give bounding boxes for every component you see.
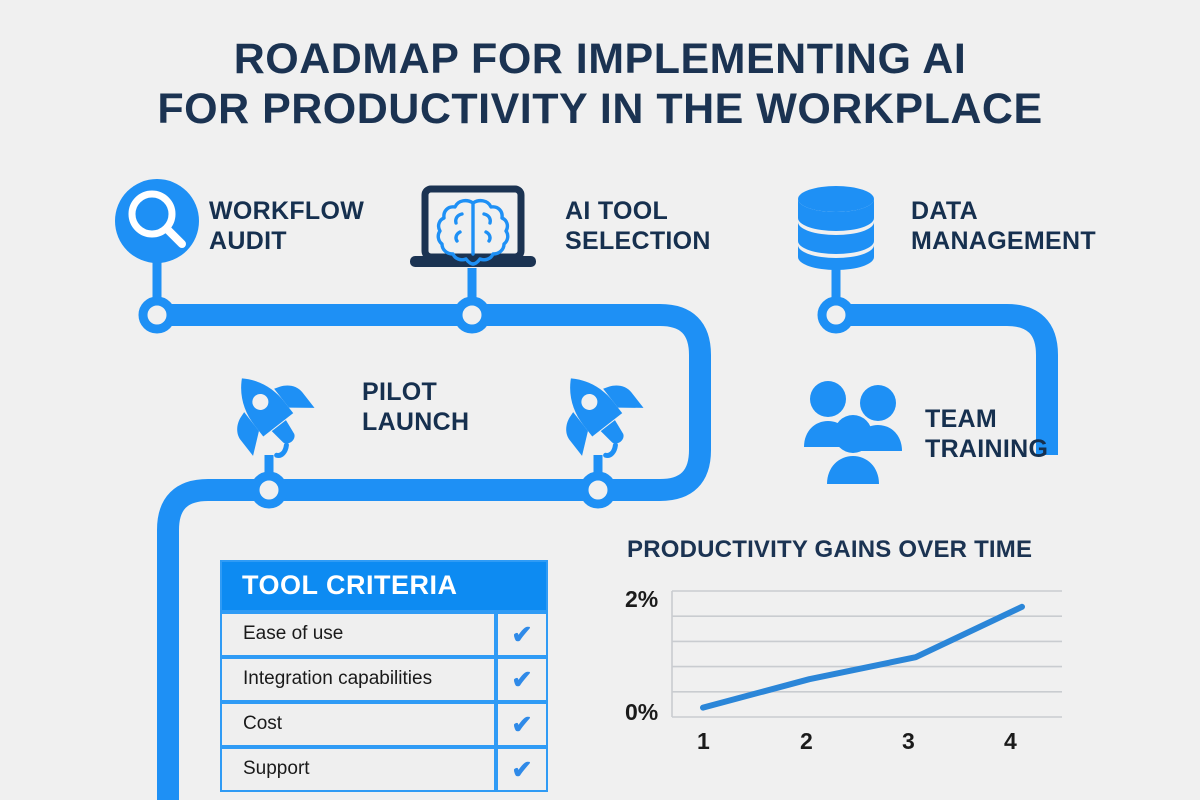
chart-xtick-4: 4 (1004, 728, 1017, 755)
stage-label-data-management: DATA MANAGEMENT (911, 196, 1096, 256)
roadmap-node-aitool[interactable] (458, 301, 486, 329)
stage-label-team-training: TEAM TRAINING (925, 404, 1048, 464)
check-icon: ✔ (496, 657, 548, 702)
chart-xtick-2: 2 (800, 728, 813, 755)
table-row: Ease of use✔ (220, 612, 548, 657)
roadmap-node-pilot-left[interactable] (255, 476, 283, 504)
rocket-icon (211, 354, 324, 469)
roadmap-node-data[interactable] (822, 301, 850, 329)
criterion-label: Support (220, 747, 496, 792)
database-icon (798, 186, 874, 270)
magnifier-icon (115, 179, 199, 263)
roadmap-node-pilot-right[interactable] (584, 476, 612, 504)
criterion-label: Ease of use (220, 612, 496, 657)
table-title: TOOL CRITERIA (220, 560, 548, 612)
table-row: Integration capabilities✔ (220, 657, 548, 702)
chart-xtick-3: 3 (902, 728, 915, 755)
check-icon: ✔ (496, 612, 548, 657)
chart-title: PRODUCTIVITY GAINS OVER TIME (627, 536, 1032, 564)
chart-ytick-top: 2% (625, 586, 658, 613)
chart-ytick-bottom: 0% (625, 699, 658, 726)
rocket-icon (540, 354, 653, 469)
stage-label-workflow-audit: WORKFLOW AUDIT (209, 196, 364, 256)
stage-label-pilot-launch: PILOT LAUNCH (362, 377, 469, 437)
criterion-label: Cost (220, 702, 496, 747)
tool-criteria-table: TOOL CRITERIA Ease of use✔Integration ca… (220, 560, 548, 792)
people-group-icon (804, 381, 902, 484)
check-icon: ✔ (496, 747, 548, 792)
check-icon: ✔ (496, 702, 548, 747)
chart-xtick-1: 1 (697, 728, 710, 755)
table-row: Support✔ (220, 747, 548, 792)
roadmap-node-workflow[interactable] (143, 301, 171, 329)
criterion-label: Integration capabilities (220, 657, 496, 702)
laptop-brain-icon (410, 189, 536, 267)
productivity-line-chart (610, 575, 1080, 725)
stage-label-ai-tool-selection: AI TOOL SELECTION (565, 196, 711, 256)
table-row: Cost✔ (220, 702, 548, 747)
table-header-row: TOOL CRITERIA (220, 560, 548, 612)
